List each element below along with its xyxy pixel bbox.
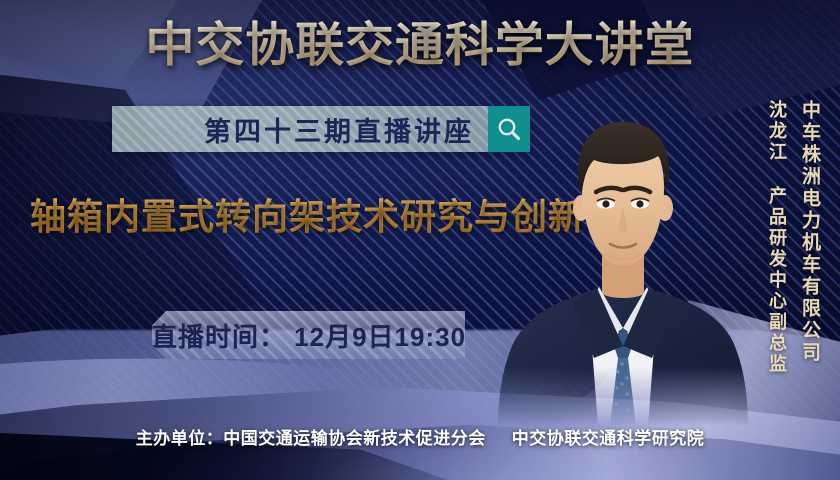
organizer-name-1: 中国交通运输协会新技术促进分会 — [223, 429, 486, 448]
speaker-info: 中车株洲电力机车有限公司 沈龙江 产品研发中心副总监 — [765, 100, 822, 375]
episode-label: 第四十三期直播讲座 — [204, 110, 474, 149]
speaker-portrait-image — [498, 96, 748, 426]
speaker-company: 中车株洲电力机车有限公司 — [797, 100, 822, 375]
speaker-name-title: 沈龙江 产品研发中心副总监 — [765, 100, 789, 375]
broadcast-time-text: 直播时间： 12月9日19:30 — [152, 317, 465, 354]
broadcast-time-box: 直播时间： 12月9日19:30 — [152, 311, 465, 359]
speaker-portrait — [498, 96, 748, 426]
page-title: 中交协联交通科学大讲堂 — [0, 16, 840, 74]
episode-banner: 第四十三期直播讲座 — [112, 106, 530, 152]
organizer-label: 主办单位： — [136, 429, 224, 448]
organizer-name-2: 中交协联交通科学研究院 — [512, 429, 705, 448]
episode-banner-body: 第四十三期直播讲座 — [112, 106, 488, 152]
live-stream-poster: 中车株洲电力机车有限公司 沈龙江 产品研发中心副总监 中交协联交通科学大讲堂 中… — [0, 0, 840, 480]
organizers-footer: 主办单位：中国交通运输协会新技术促进分会中交协联交通科学研究院 — [0, 424, 840, 449]
